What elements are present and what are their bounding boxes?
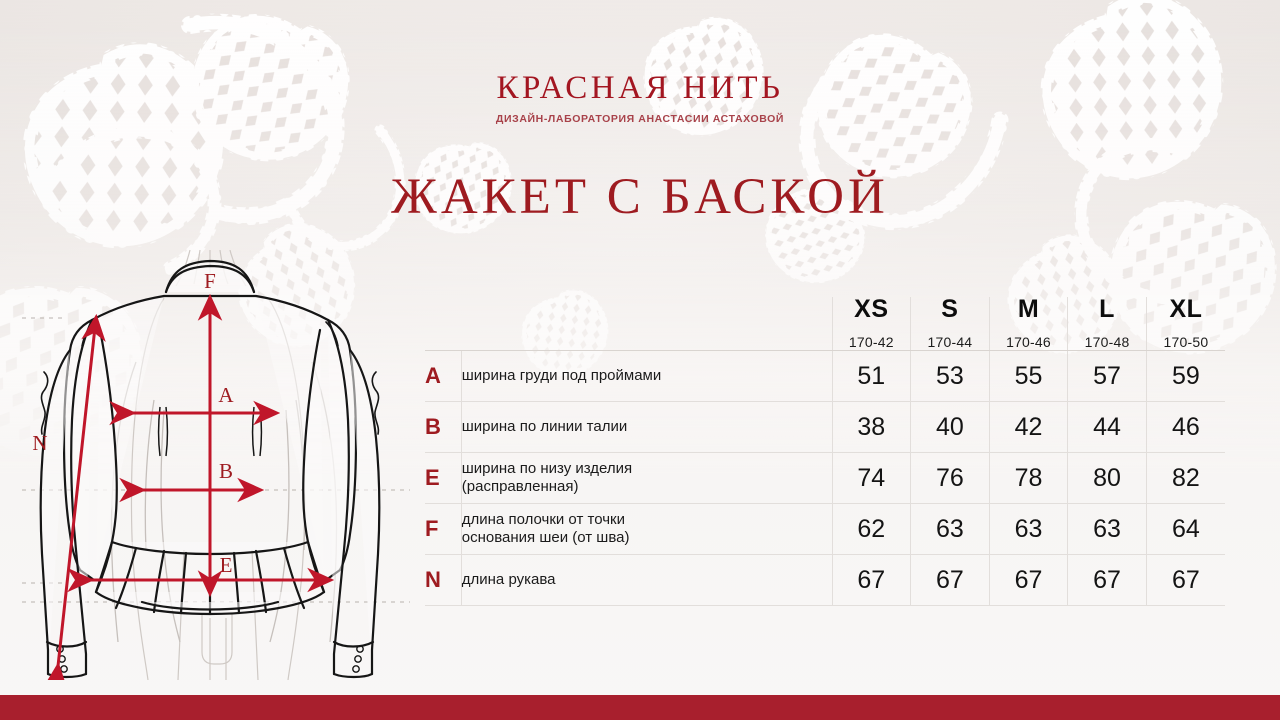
size-code-l: 170-48 [1068, 334, 1146, 350]
row-f-value-xl: 64 [1146, 504, 1225, 555]
row-f-value-m: 63 [989, 504, 1068, 555]
header-description-blank [461, 297, 832, 351]
row-description-line2: основания шеи (от шва) [462, 529, 832, 547]
row-description-b: ширина по линии талии [461, 402, 832, 453]
header-size-m: M 170-46 [989, 297, 1068, 351]
row-n-value-xl: 67 [1146, 555, 1225, 606]
row-a-value-m: 55 [989, 351, 1068, 402]
size-chart-page: КРАСНАЯ НИТЬ ДИЗАЙН-ЛАБОРАТОРИЯ АНАСТАСИ… [0, 0, 1280, 720]
row-b-value-xs: 38 [832, 402, 911, 453]
row-f-value-s: 63 [911, 504, 990, 555]
row-description-n: длина рукава [461, 555, 832, 606]
row-description-e: ширина по низу изделия (расправленная) [461, 453, 832, 504]
brand-tagline: ДИЗАЙН-ЛАБОРАТОРИЯ АНАСТАСИИ АСТАХОВОЙ [0, 113, 1280, 125]
brand-logo: КРАСНАЯ НИТЬ ДИЗАЙН-ЛАБОРАТОРИЯ АНАСТАСИ… [0, 72, 1280, 125]
row-e-value-xl: 82 [1146, 453, 1225, 504]
row-description-line1: ширина по линии талии [462, 418, 832, 436]
size-table-body: A ширина груди под проймами 51 53 55 57 … [425, 351, 1225, 606]
row-a-value-xs: 51 [832, 351, 911, 402]
row-description-line1: длина полочки от точки [462, 511, 832, 529]
row-a-value-l: 57 [1068, 351, 1147, 402]
table-row: E ширина по низу изделия (расправленная)… [425, 453, 1225, 504]
size-label-xs: XS [833, 297, 911, 322]
size-code-m: 170-46 [990, 334, 1068, 350]
row-letter-n: N [425, 555, 461, 606]
row-a-value-s: 53 [911, 351, 990, 402]
header-row: XS 170-42 S 170-44 M 170-46 L 170-48 [425, 297, 1225, 351]
size-label-s: S [911, 297, 989, 322]
size-code-s: 170-44 [911, 334, 989, 350]
bottom-accent-bar [0, 695, 1280, 720]
row-e-value-xs: 74 [832, 453, 911, 504]
row-description-f: длина полочки от точки основания шеи (от… [461, 504, 832, 555]
row-n-value-s: 67 [911, 555, 990, 606]
table-row: A ширина груди под проймами 51 53 55 57 … [425, 351, 1225, 402]
brand-name: КРАСНАЯ НИТЬ [0, 72, 1280, 105]
row-e-value-l: 80 [1068, 453, 1147, 504]
table-row: B ширина по линии талии 38 40 42 44 46 [425, 402, 1225, 453]
row-description-line1: длина рукава [462, 571, 832, 589]
row-letter-b: B [425, 402, 461, 453]
header-letter-blank [425, 297, 461, 351]
size-table-container: XS 170-42 S 170-44 M 170-46 L 170-48 [425, 297, 1225, 606]
row-f-value-xs: 62 [832, 504, 911, 555]
label-F: F [204, 269, 216, 293]
size-table-head: XS 170-42 S 170-44 M 170-46 L 170-48 [425, 297, 1225, 351]
table-row: N длина рукава 67 67 67 67 67 [425, 555, 1225, 606]
size-table: XS 170-42 S 170-44 M 170-46 L 170-48 [425, 297, 1225, 606]
row-letter-e: E [425, 453, 461, 504]
label-A: A [218, 383, 234, 407]
row-e-value-m: 78 [989, 453, 1068, 504]
header-size-s: S 170-44 [911, 297, 990, 351]
row-f-value-l: 63 [1068, 504, 1147, 555]
row-description-line1: ширина груди под проймами [462, 367, 832, 385]
row-b-value-m: 42 [989, 402, 1068, 453]
row-b-value-xl: 46 [1146, 402, 1225, 453]
row-n-value-l: 67 [1068, 555, 1147, 606]
row-description-line2: (расправленная) [462, 478, 832, 496]
jacket-illustration: F A B E N [14, 250, 434, 680]
row-description-line1: ширина по низу изделия [462, 460, 832, 478]
size-code-xl: 170-50 [1147, 334, 1225, 350]
label-E: E [220, 553, 233, 577]
page-title: ЖАКЕТ С БАСКОЙ [0, 168, 1280, 226]
row-n-value-xs: 67 [832, 555, 911, 606]
row-a-value-xl: 59 [1146, 351, 1225, 402]
size-label-m: M [990, 297, 1068, 322]
size-label-xl: XL [1147, 297, 1225, 322]
row-description-a: ширина груди под проймами [461, 351, 832, 402]
header-size-xs: XS 170-42 [832, 297, 911, 351]
row-n-value-m: 67 [989, 555, 1068, 606]
size-code-xs: 170-42 [833, 334, 911, 350]
header-size-l: L 170-48 [1068, 297, 1147, 351]
row-b-value-s: 40 [911, 402, 990, 453]
size-label-l: L [1068, 297, 1146, 322]
header-size-xl: XL 170-50 [1146, 297, 1225, 351]
row-letter-a: A [425, 351, 461, 402]
row-b-value-l: 44 [1068, 402, 1147, 453]
label-N: N [32, 431, 47, 455]
row-letter-f: F [425, 504, 461, 555]
table-row: F длина полочки от точки основания шеи (… [425, 504, 1225, 555]
row-e-value-s: 76 [911, 453, 990, 504]
label-B: B [219, 459, 233, 483]
